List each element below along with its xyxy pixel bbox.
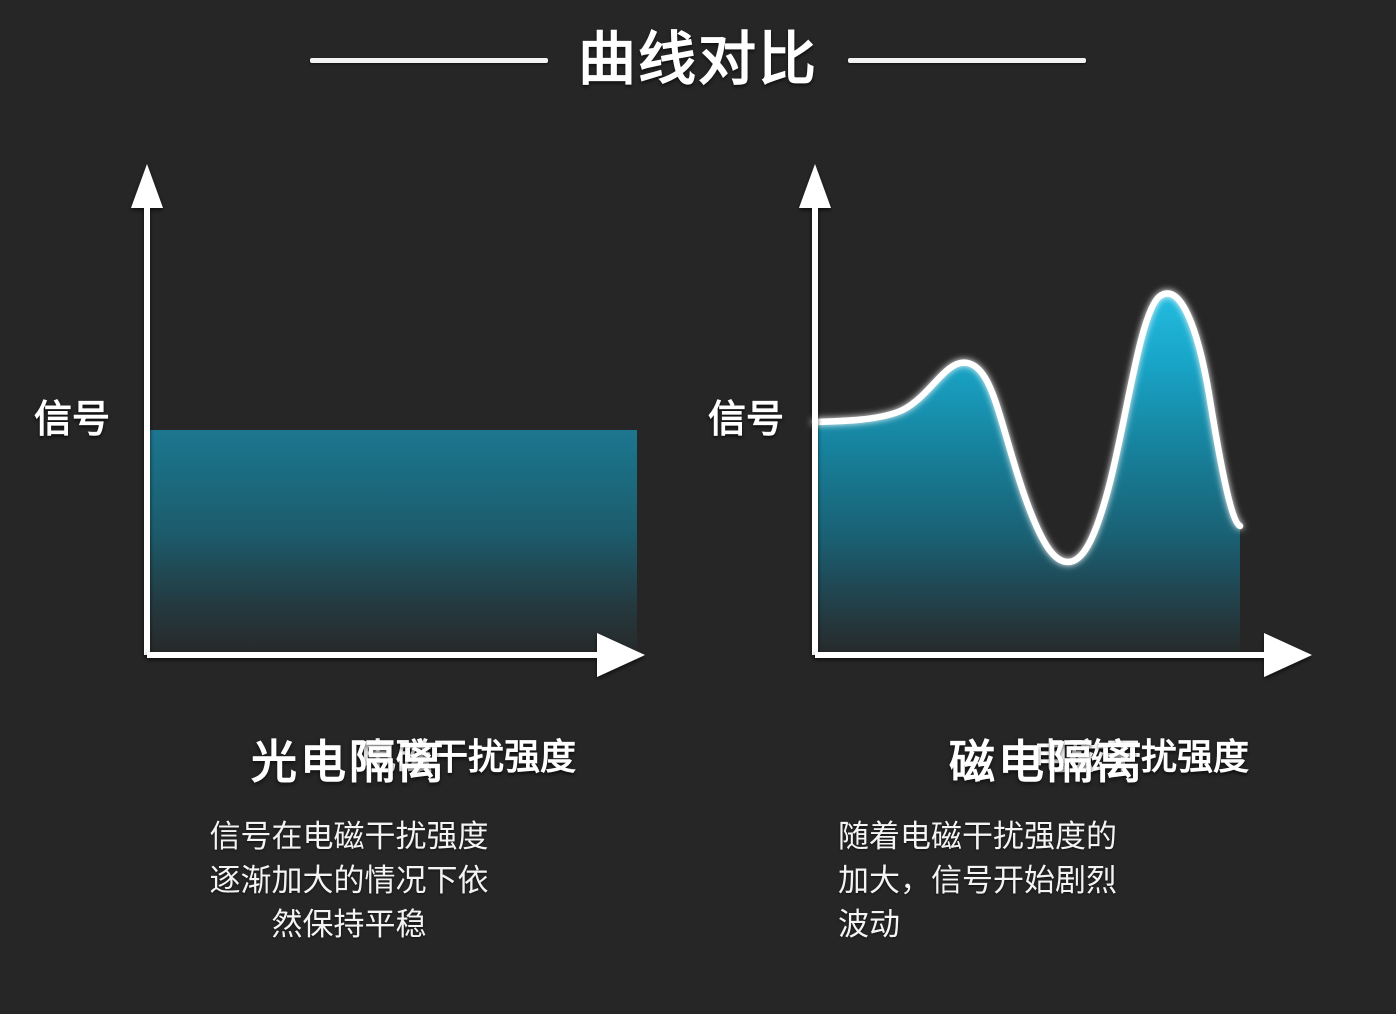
caption-optical-isolation: 光电隔离 信号在电磁干扰强度 逐渐加大的情况下依 然保持平稳 xyxy=(0,736,698,947)
magnetic-isolation-chart xyxy=(698,150,1396,710)
chart-panel-optical-isolation: 信号 电磁干扰强度 xyxy=(0,150,698,710)
captions-area: 光电隔离 信号在电磁干扰强度 逐渐加大的情况下依 然保持平稳 磁电隔离 随着电磁… xyxy=(0,736,1396,1014)
y-axis-arrow-icon xyxy=(799,164,831,208)
page-title: 曲线对比 xyxy=(578,31,818,89)
caption-line: 加大，信号开始剧烈 xyxy=(838,863,1117,898)
optical-signal-area xyxy=(147,430,637,655)
title-rule-left-icon xyxy=(310,58,548,63)
caption-body-magnetic: 随着电磁干扰强度的 加大，信号开始剧烈 波动 xyxy=(838,815,1240,947)
magnetic-signal-area xyxy=(815,293,1240,655)
caption-line: 逐渐加大的情况下依 xyxy=(210,863,489,898)
y-axis-label-optical: 信号 xyxy=(34,388,110,443)
chart-panel-magnetic-isolation: 信号 电磁干扰强度 xyxy=(698,150,1396,710)
x-axis-arrow-icon xyxy=(1264,633,1312,677)
caption-line: 波动 xyxy=(838,903,1240,947)
caption-line: 然保持平稳 xyxy=(272,907,427,942)
caption-body-optical: 信号在电磁干扰强度 逐渐加大的情况下依 然保持平稳 xyxy=(139,815,559,947)
caption-title-magnetic: 磁电隔离 xyxy=(698,736,1396,789)
y-axis-arrow-icon xyxy=(131,164,163,208)
charts-area: 信号 电磁干扰强度 xyxy=(0,150,1396,710)
caption-line: 随着电磁干扰强度的 xyxy=(838,819,1117,854)
caption-title-optical: 光电隔离 xyxy=(0,736,698,789)
title-rule-right-icon xyxy=(848,58,1086,63)
slide-root: 曲线对比 xyxy=(0,0,1396,1014)
y-axis-label-magnetic: 信号 xyxy=(708,388,784,443)
caption-magnetic-isolation: 磁电隔离 随着电磁干扰强度的 加大，信号开始剧烈 波动 xyxy=(698,736,1396,947)
page-title-row: 曲线对比 xyxy=(0,14,1396,106)
caption-line: 信号在电磁干扰强度 xyxy=(210,819,489,854)
